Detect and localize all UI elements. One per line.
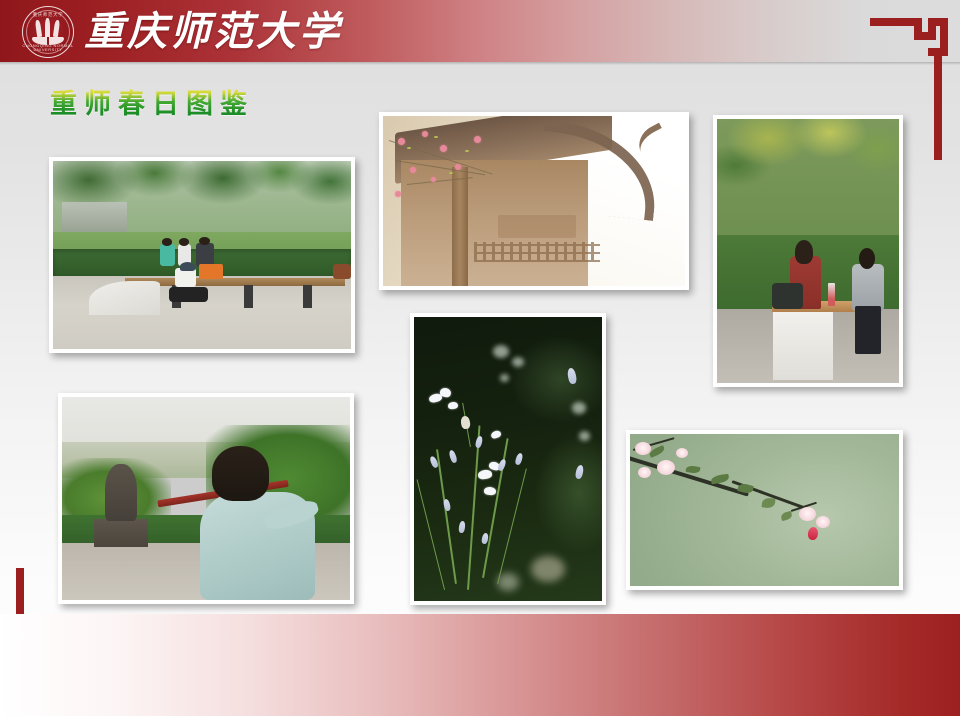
photo-students-reading-bench[interactable]: [713, 115, 903, 387]
photo-white-iris-flowers[interactable]: [410, 313, 606, 605]
seal-arc-top-text: 重庆师范大学: [22, 13, 74, 17]
university-seal-logo: 重庆师范大学 CHONGQING NORMAL UNIVERSITY: [22, 6, 74, 58]
page-title: 重师春日图鉴: [50, 88, 254, 122]
photo-student-with-flute[interactable]: [58, 393, 354, 604]
university-name: 重庆师范大学: [84, 9, 342, 55]
bottom-edge: [0, 716, 960, 720]
photo-campus-plaza-students[interactable]: [49, 157, 355, 353]
photo-traditional-pavilion[interactable]: [379, 112, 689, 290]
bottom-gradient-band: [0, 614, 960, 720]
header-shadow: [0, 62, 960, 65]
photo-blossom-branch[interactable]: [626, 430, 903, 590]
presentation-slide: 重庆师范大学 CHONGQING NORMAL UNIVERSITY 重庆师范大…: [0, 0, 960, 720]
seal-arc-bottom-text: CHONGQING NORMAL UNIVERSITY: [22, 44, 74, 52]
